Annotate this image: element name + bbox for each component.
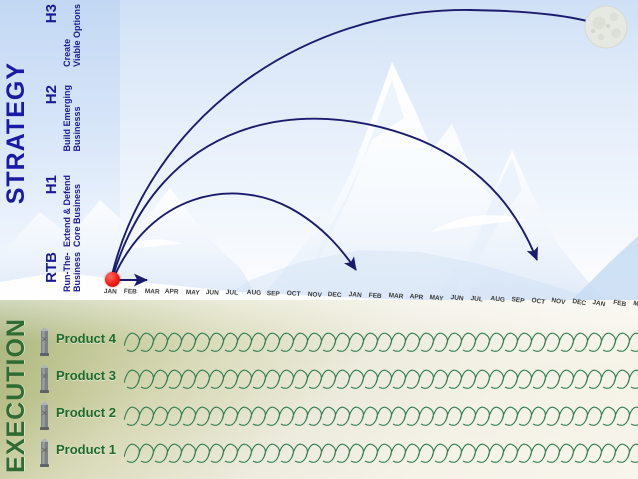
rocket-icon [38,398,51,430]
execution-section-title: EXECUTION [2,318,31,473]
product-2-iteration-coil [124,400,638,426]
rocket-icon [38,435,51,467]
rocket-icon [38,361,51,393]
rtb-code: RTB [43,252,60,283]
strategy-section-title: STRATEGY [2,62,31,204]
product-label: Product 1 [56,442,116,457]
origin-point-marker [105,272,120,287]
slide-canvas: STRATEGY H3 Create Viable Options H2 Bui… [0,0,638,479]
moon-icon [583,4,629,50]
product-label: Product 2 [56,405,116,420]
rtb-description: Run-The- Business [62,252,82,292]
horizon-1-description: Extend & Defend Core Business [62,175,82,247]
product-3-iteration-coil [124,363,638,389]
product-label: Product 4 [56,331,116,346]
product-4-iteration-coil [124,326,638,352]
horizon-2-description: Build Emerging Businesss [62,85,82,152]
rocket-icon [38,324,51,356]
horizon-2-code: H2 [43,85,60,104]
horizon-3-code: H3 [43,4,60,23]
h1-arc [114,193,356,277]
horizon-1-code: H1 [43,175,60,194]
horizon-arrows-group [0,0,638,312]
h2-arc [113,119,537,276]
product-label: Product 3 [56,368,116,383]
product-1-iteration-coil [124,437,638,463]
horizon-3-description: Create Viable Options [62,4,82,67]
